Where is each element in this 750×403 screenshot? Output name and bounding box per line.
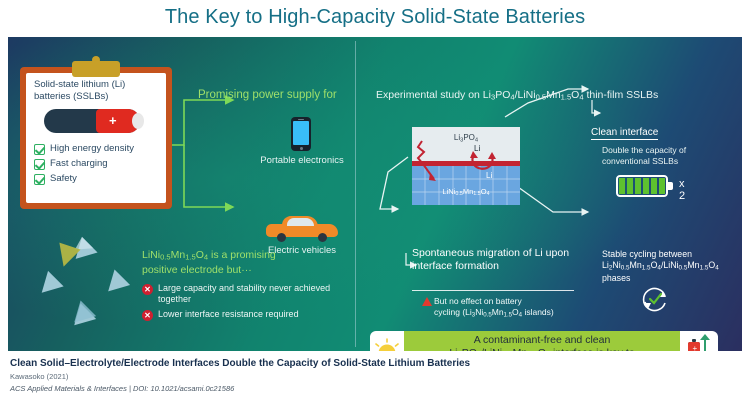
phone-speaker [298, 119, 304, 121]
cycle-check-icon [641, 285, 669, 313]
battery-tip [668, 182, 673, 190]
crystal-structure-icon [30, 233, 134, 337]
cross-icon: ✕ [142, 310, 153, 321]
conclusion-text: A contaminant-free and clean Li3PO4/LiNi… [449, 334, 634, 351]
battery-up-arrow-icon: + [688, 339, 700, 351]
car-window [287, 218, 314, 226]
list-item: Fast charging [34, 158, 158, 170]
issue-label: Large capacity and stability never achie… [158, 283, 354, 305]
li-embedded-label: Li [486, 171, 492, 180]
paper-doi[interactable]: ACS Applied Materials & Interfaces | DOI… [10, 384, 234, 393]
phone-screen [293, 121, 309, 145]
benefit-label: Fast charging [50, 158, 108, 170]
check-icon [34, 144, 45, 155]
electrolyte-label: Li3PO4 [412, 133, 520, 143]
panel-divider [355, 41, 356, 347]
conclusion-banner: A contaminant-free and clean Li3PO4/LiNi… [404, 331, 680, 351]
car-icon [266, 215, 338, 243]
lightbulb-card [370, 331, 404, 351]
battery-plus: + [693, 344, 698, 351]
sslb-clipboard: Solid-state lithium (Li) batteries (SSLB… [20, 59, 172, 209]
clean-interface-title: Clean interface [591, 127, 658, 140]
clipboard-knob-icon [92, 56, 100, 64]
benefit-label: High energy density [50, 143, 134, 155]
battery-icon: + [44, 109, 146, 133]
cross-icon: ✕ [142, 284, 153, 295]
battery-cap [692, 339, 696, 342]
capacity-increase-card: + [680, 331, 718, 351]
poster-body: Solid-state lithium (Li) batteries (SSLB… [8, 37, 742, 351]
list-item: High energy density [34, 143, 158, 155]
list-item: ✕ Lower interface resistance required [142, 309, 354, 321]
experiment-heading: Experimental study on Li3PO4/LiNi0.5Mn1.… [376, 89, 658, 102]
migration-title: Spontaneous migration of Li upon interfa… [412, 247, 582, 273]
list-item: Safety [34, 173, 158, 185]
car-wheel-front [277, 233, 286, 242]
paper-author: Kawasoko (2021) [10, 372, 68, 381]
battery-terminal [132, 113, 144, 129]
stable-cycling-title: Stable cycling betweenLi2Ni0.5Mn1.5O4/Li… [602, 249, 742, 284]
phone-home-button [300, 147, 303, 150]
page-title: The Key to High-Capacity Solid-State Bat… [0, 6, 750, 29]
electrode-heading: LiNi0.5Mn1.5O4 is a promisingpositive el… [142, 249, 352, 277]
clean-interface-detail: Double the capacity of conventional SSLB… [602, 145, 722, 166]
migration-divider [412, 290, 574, 291]
electrode-label: LiNi0.5Mn1.5O4 [412, 187, 520, 197]
footer: Clean Solid–Electrolyte/Electrode Interf… [0, 353, 750, 403]
benefit-label: Safety [50, 173, 77, 185]
clipboard-heading: Solid-state lithium (Li) batteries (SSLB… [34, 79, 152, 103]
benefit-checklist: High energy density Fast charging Safety [34, 143, 158, 188]
list-item: ✕ Large capacity and stability never ach… [142, 283, 354, 305]
capacity-multiplier-label: x 2 [679, 178, 685, 202]
battery-bars [619, 178, 665, 194]
electrode-issue-list: ✕ Large capacity and stability never ach… [142, 283, 354, 325]
full-battery-icon: x 2 [616, 175, 674, 197]
infographic-root: The Key to High-Capacity Solid-State Bat… [0, 0, 750, 403]
warning-icon [422, 297, 432, 306]
lightbulb-icon [370, 331, 404, 351]
battery-plus-label: + [109, 113, 117, 128]
car-wheel-rear [318, 233, 327, 242]
up-arrow-icon [704, 339, 706, 351]
portable-electronics-label: Portable electronics [247, 155, 357, 166]
smartphone-icon [291, 117, 311, 151]
check-icon [34, 159, 45, 170]
li-migration-label: Li [474, 144, 480, 153]
check-icon [34, 174, 45, 185]
power-supply-heading: Promising power supply for [198, 89, 337, 101]
interface-schematic: Li3PO4 Li Li LiNi0.5Mn1.5O4 [412, 127, 520, 205]
issue-label: Lower interface resistance required [158, 309, 299, 320]
paper-title: Clean Solid–Electrolyte/Electrode Interf… [10, 358, 470, 369]
migration-detail: But no effect on batterycycling (Li3Ni0.… [434, 296, 594, 320]
